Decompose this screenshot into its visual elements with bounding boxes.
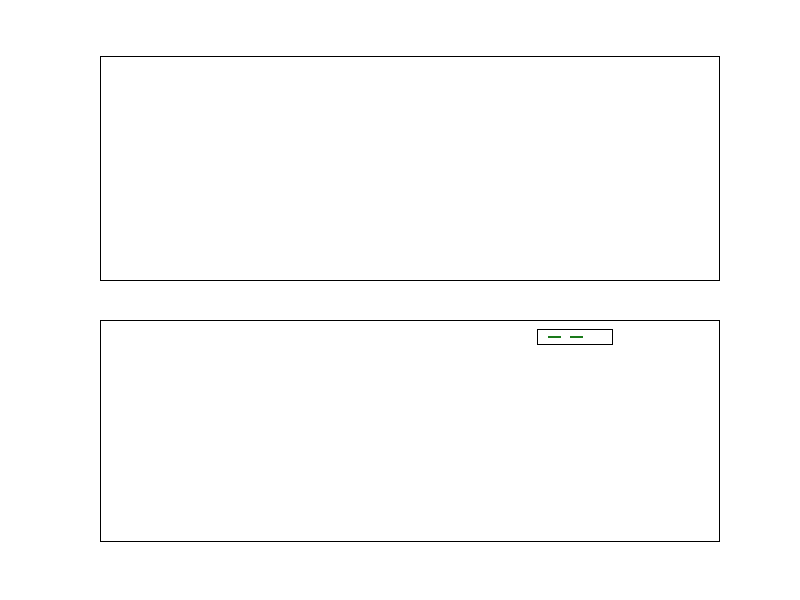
histogram-bars bbox=[101, 57, 719, 280]
cumulative-histogram-plot-area bbox=[101, 321, 719, 541]
matplotlib-figure bbox=[0, 0, 800, 600]
cumulative-histogram-axes bbox=[100, 320, 720, 542]
differential-histogram-axes bbox=[100, 56, 720, 281]
green-dashed-line-icon bbox=[546, 336, 588, 338]
differential-histogram-plot-area bbox=[101, 57, 719, 280]
legend[interactable] bbox=[537, 329, 613, 345]
cumulative-curve bbox=[101, 321, 719, 541]
